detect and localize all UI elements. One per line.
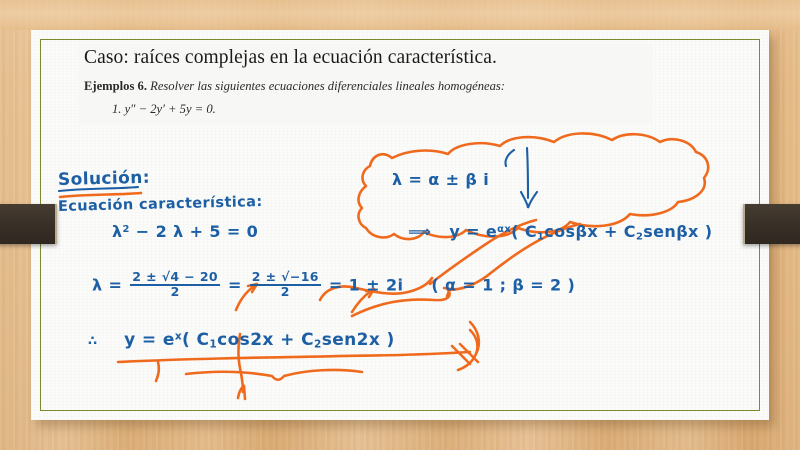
note-y-exponent: αx [497, 224, 511, 235]
handwriting-note-line-1: λ = α ± β i [392, 170, 489, 189]
fraction-1-numerator: 2 ± √4 − 20 [130, 271, 220, 284]
note-y-prefix: y = e [449, 222, 497, 241]
note-sen-term: senβx ) [643, 222, 712, 241]
decorative-bar-left [0, 204, 57, 244]
roots-value: 1 ± 2i [349, 275, 404, 294]
final-sen-term: sen2x ) [322, 330, 395, 350]
examples-text: Resolver las siguientes ecuaciones difer… [150, 79, 505, 93]
final-cos-term: cos2x + C [217, 330, 314, 350]
final-c1-subscript: 1 [209, 339, 217, 351]
note-lambda-general: λ = α ± β i [392, 170, 489, 189]
examples-label: Ejemplos 6. [84, 79, 147, 93]
therefore-symbol: ∴ [88, 334, 97, 349]
equals-sign-2: = [329, 275, 343, 294]
solucion-text: Solución: [58, 168, 150, 190]
handwriting-solucion: Solución: [58, 168, 150, 190]
note-open-paren: ( C [511, 222, 537, 241]
decorative-bar-right [743, 204, 800, 244]
fraction-1: 2 ± √4 − 20 2 [130, 271, 220, 299]
example-item-1: 1. y″ − 2y′ + 5y = 0. [78, 94, 653, 124]
handwriting-note-line-2: ⟹ y = eαx( C1cosβx + C2senβx ) [408, 222, 712, 242]
lambda-label: λ = [92, 275, 122, 294]
note-implies-arrow: ⟹ [408, 222, 431, 241]
page-title: Caso: raíces complejas en la ecuación ca… [78, 44, 653, 72]
char-eq-exponent: 2 [123, 224, 130, 235]
fraction-2-numerator: 2 ± √−16 [250, 271, 321, 284]
final-c2-subscript: 2 [314, 339, 322, 351]
slide-stage: Caso: raíces complejas en la ecuación ca… [0, 0, 800, 450]
handwriting-characteristic-equation: λ2 − 2 λ + 5 = 0 [112, 222, 258, 241]
char-eq-lambda: λ [112, 222, 123, 241]
printed-content-block: Caso: raíces complejas en la ecuación ca… [78, 44, 653, 124]
fraction-2: 2 ± √−16 2 [250, 271, 321, 299]
examples-line: Ejemplos 6. Resolver las siguientes ecua… [78, 72, 653, 94]
handwriting-quadratic-line: λ = 2 ± √4 − 20 2 = 2 ± √−16 2 = 1 ± 2i … [92, 272, 575, 300]
fraction-2-denominator: 2 [250, 284, 321, 299]
wood-top-highlight [0, 0, 800, 30]
char-eq-rest: − 2 λ + 5 = 0 [130, 222, 258, 241]
fraction-1-denominator: 2 [130, 284, 220, 299]
final-open-paren: ( C [182, 330, 209, 350]
note-cos-term: cosβx + C [544, 222, 636, 241]
final-y-exponent: x [175, 331, 182, 343]
alpha-beta-values: ( α = 1 ; β = 2 ) [431, 275, 575, 294]
equals-sign-1: = [228, 275, 242, 294]
handwriting-final-answer: ∴ y = ex( C1cos2x + C2sen2x ) [88, 330, 395, 351]
final-y-prefix: y = e [124, 330, 175, 350]
